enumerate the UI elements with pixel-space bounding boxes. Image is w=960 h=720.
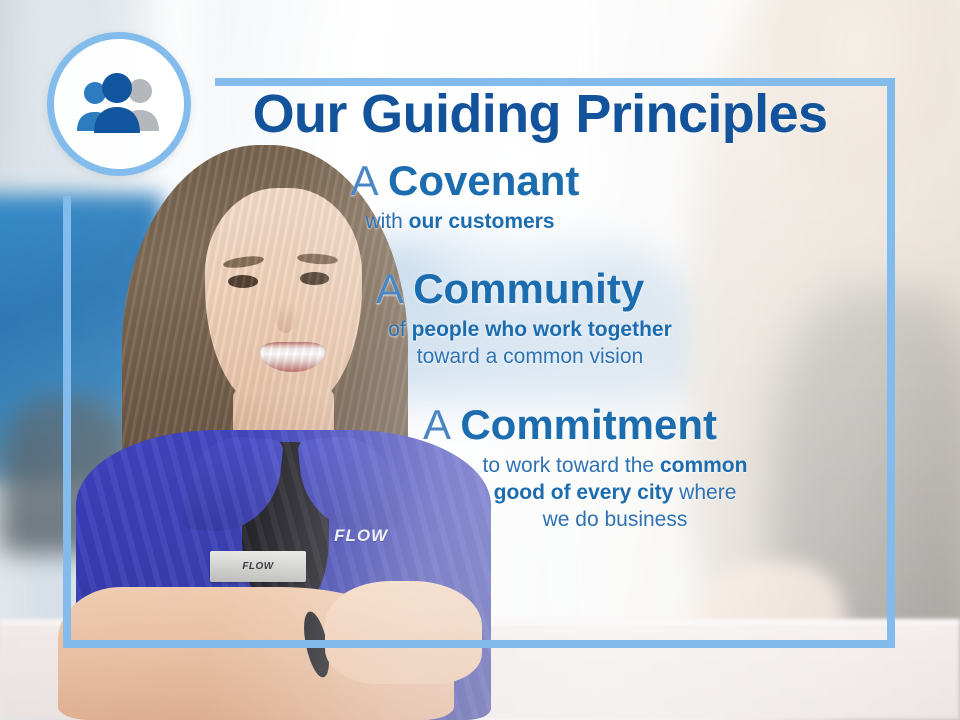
banner-graphic: FLOW FLOW Our Guiding Princi bbox=[0, 0, 960, 720]
clasped-hands bbox=[325, 581, 482, 684]
principle-subtext: to work toward the commongood of every c… bbox=[260, 453, 880, 534]
page-title: Our Guiding Principles bbox=[200, 86, 880, 143]
principle-subtext: of people who work togethertoward a comm… bbox=[200, 317, 820, 371]
people-group-icon bbox=[47, 32, 191, 176]
principle-article: A bbox=[423, 401, 460, 448]
principle-subtext: with our customers bbox=[200, 209, 730, 236]
employee-name-badge: FLOW bbox=[210, 551, 307, 582]
principle-covenant: A Covenant with our customers bbox=[200, 157, 880, 236]
principle-keyword: Covenant bbox=[388, 157, 579, 204]
principle-keyword: Commitment bbox=[460, 401, 717, 448]
principle-keyword: Community bbox=[413, 265, 644, 312]
principle-community: A Community of people who work togethert… bbox=[200, 265, 880, 371]
principles-content: Our Guiding Principles A Covenant with o… bbox=[200, 86, 880, 536]
principle-heading: A Community bbox=[200, 265, 820, 313]
principle-commitment: A Commitment to work toward the commongo… bbox=[200, 401, 880, 534]
principle-article: A bbox=[376, 265, 413, 312]
principle-heading: A Commitment bbox=[260, 401, 880, 449]
principle-article: A bbox=[351, 157, 388, 204]
principle-heading: A Covenant bbox=[200, 157, 730, 205]
name-badge-text: FLOW bbox=[242, 561, 273, 572]
